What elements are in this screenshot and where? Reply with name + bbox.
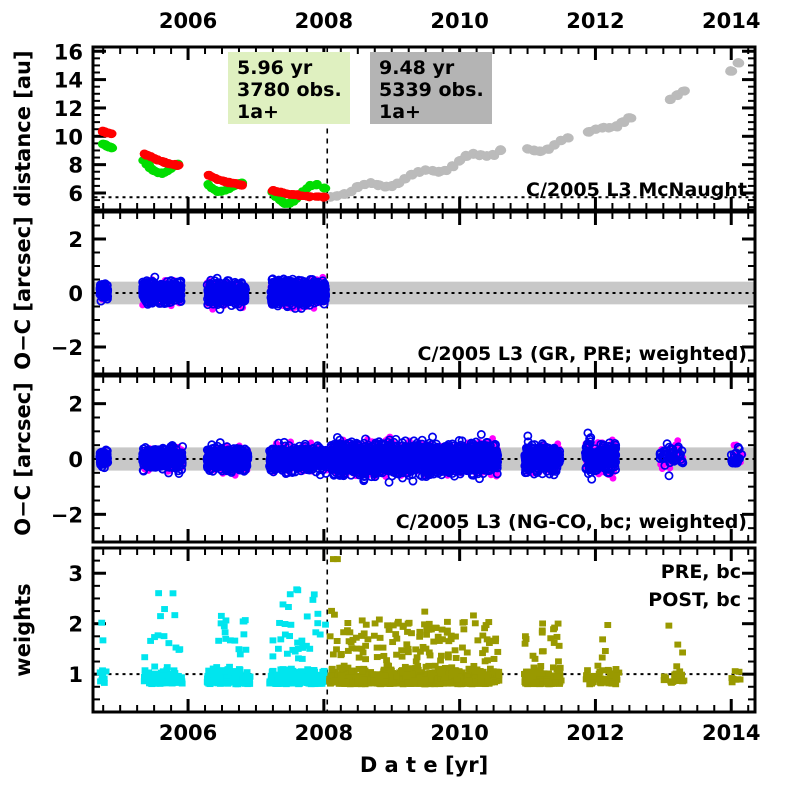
data-point (321, 184, 330, 192)
data-point (107, 130, 116, 138)
data-point (726, 66, 736, 75)
data-point (107, 144, 116, 152)
data-point (174, 161, 183, 169)
data-point (625, 113, 635, 122)
figure-root: 6810121416distance [au]C/2005 L3 McNaugh… (0, 0, 797, 797)
data-point (733, 59, 743, 68)
data-point (563, 133, 573, 142)
data-point (320, 193, 329, 201)
data-point (679, 87, 689, 96)
multi-panel-plot: 6810121416distance [au]C/2005 L3 McNaugh… (0, 0, 797, 797)
data-point (237, 181, 246, 189)
data-point (495, 146, 505, 155)
